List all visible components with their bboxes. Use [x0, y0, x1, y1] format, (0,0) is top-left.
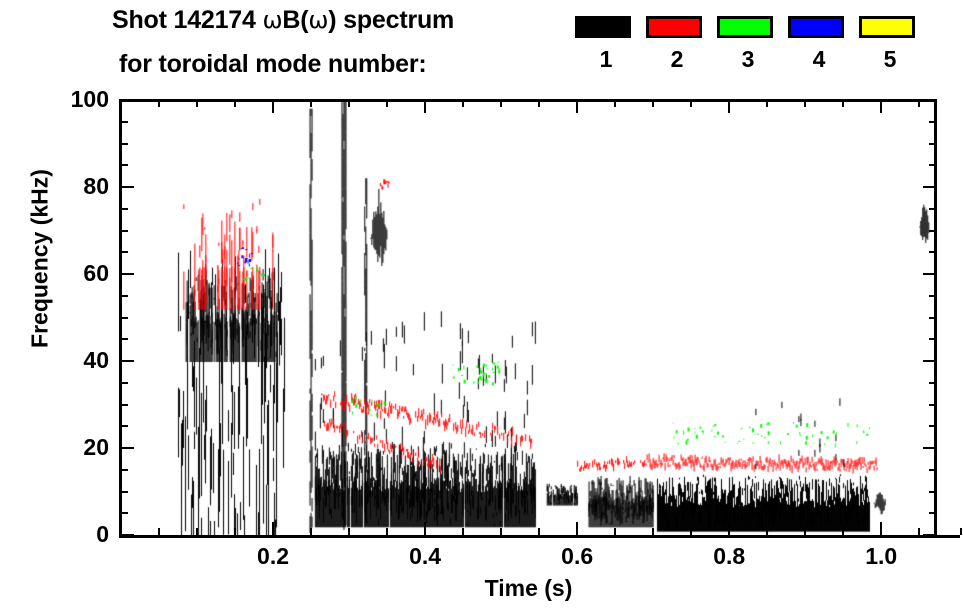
x-minor-tick-top-0.25: [310, 100, 312, 107]
x-major-tick-1: [880, 522, 882, 535]
x-minor-tick-top-0.05: [158, 100, 160, 107]
y-minor-tick-right-25: [929, 425, 936, 427]
title-line-2: for toroidal mode number:: [119, 50, 427, 79]
y-minor-tick-right-35: [929, 382, 936, 384]
y-tick-label-100: 100: [49, 88, 109, 111]
x-major-tick-0.8: [728, 522, 730, 535]
legend-swatch-1: [575, 16, 631, 38]
omega-symbol-2: ω: [308, 6, 328, 34]
x-minor-tick-overhang: [960, 528, 962, 535]
y-minor-tick-right-30: [929, 404, 936, 406]
x-minor-tick-0.95: [842, 528, 844, 535]
legend-item-toroidal-mode-5: 5: [859, 16, 921, 71]
y-minor-tick-45: [121, 338, 128, 340]
y-major-tick-60: [121, 273, 134, 275]
title-line-1: Shot 142174 ωB(ω) spectrum: [112, 6, 454, 35]
y-major-tick-right-80: [923, 186, 936, 188]
y-minor-tick-5: [121, 512, 128, 514]
omega-symbol-1: ω: [262, 6, 282, 34]
x-major-tick-top-0.6: [576, 100, 578, 113]
x-minor-tick-top-0.55: [538, 100, 540, 107]
plot-area: [121, 100, 936, 535]
legend-label-4: 4: [788, 48, 850, 71]
title-prefix: Shot 142174: [112, 6, 262, 34]
y-minor-tick-30: [121, 404, 128, 406]
x-minor-tick-0.25: [310, 528, 312, 535]
y-major-tick-right-40: [923, 360, 936, 362]
x-major-tick-top-0: [120, 100, 122, 113]
x-minor-tick-top-0.45: [462, 100, 464, 107]
x-minor-tick-0.55: [538, 528, 540, 535]
x-major-tick-0: [120, 522, 122, 535]
y-tick-label-0: 0: [49, 523, 109, 546]
y-minor-tick-right-45: [929, 338, 936, 340]
y-minor-tick-90: [121, 143, 128, 145]
y-major-tick-right-100: [923, 99, 936, 101]
x-minor-tick-top-0.15: [234, 100, 236, 107]
y-minor-tick-75: [121, 208, 128, 210]
top-axis-line: [119, 99, 937, 102]
legend-swatch-4: [788, 16, 844, 38]
x-minor-tick-top-0.85: [766, 100, 768, 107]
y-tick-label-20: 20: [49, 436, 109, 459]
x-minor-tick-top-0.75: [690, 100, 692, 107]
x-major-tick-0.4: [424, 522, 426, 535]
y-tick-label-40: 40: [49, 349, 109, 372]
y-minor-tick-right-50: [929, 317, 936, 319]
x-minor-tick-top-0.7: [652, 100, 654, 107]
title-suffix: ) spectrum: [328, 6, 454, 34]
x-tick-label-0.6: 0.6: [537, 545, 617, 568]
y-minor-tick-right-70: [929, 230, 936, 232]
x-major-tick-0.2: [272, 522, 274, 535]
title-mid: B(: [282, 6, 308, 34]
y-minor-tick-right-95: [929, 121, 936, 123]
spectrogram-figure: Shot 142174 ωB(ω) spectrum for toroidal …: [0, 0, 963, 615]
y-minor-tick-right-55: [929, 295, 936, 297]
x-minor-tick-top-0.65: [614, 100, 616, 107]
y-minor-tick-55: [121, 295, 128, 297]
x-tick-label-1.0: 1.0: [841, 545, 921, 568]
x-axis-label: Time (s): [121, 575, 936, 602]
y-minor-tick-right-10: [929, 491, 936, 493]
y-tick-label-80: 80: [49, 175, 109, 198]
legend: 12345: [575, 0, 963, 95]
x-major-tick-top-0.8: [728, 100, 730, 113]
y-major-tick-0: [121, 534, 134, 536]
x-tick-label-0.8: 0.8: [689, 545, 769, 568]
y-major-tick-20: [121, 447, 134, 449]
y-minor-tick-15: [121, 469, 128, 471]
legend-item-toroidal-mode-4: 4: [788, 16, 850, 71]
y-minor-tick-right-65: [929, 251, 936, 253]
y-minor-tick-right-15: [929, 469, 936, 471]
x-minor-tick-0.1: [196, 528, 198, 535]
y-minor-tick-right-75: [929, 208, 936, 210]
x-tick-label-0.4: 0.4: [385, 545, 465, 568]
x-tick-label-0.2: 0.2: [233, 545, 313, 568]
y-major-tick-right-20: [923, 447, 936, 449]
y-major-tick-100: [121, 99, 134, 101]
x-minor-tick-top-0.35: [386, 100, 388, 107]
x-minor-tick-top-0.9: [804, 100, 806, 107]
y-minor-tick-65: [121, 251, 128, 253]
y-minor-tick-35: [121, 382, 128, 384]
y-minor-tick-right-85: [929, 164, 936, 166]
spectrogram-canvas: [121, 100, 936, 535]
x-major-tick-top-0.2: [272, 100, 274, 113]
x-minor-tick-top-0.3: [348, 100, 350, 107]
legend-item-toroidal-mode-3: 3: [717, 16, 779, 71]
x-minor-tick-0.7: [652, 528, 654, 535]
x-minor-tick-0.9: [804, 528, 806, 535]
x-minor-tick-top-0.5: [500, 100, 502, 107]
legend-swatch-2: [646, 16, 702, 38]
x-axis-line: [119, 535, 960, 538]
x-minor-tick-top-0.1: [196, 100, 198, 107]
y-minor-tick-10: [121, 491, 128, 493]
y-minor-tick-70: [121, 230, 128, 232]
x-minor-tick-top-0.95: [842, 100, 844, 107]
y-tick-label-60: 60: [49, 262, 109, 285]
x-minor-tick-0.35: [386, 528, 388, 535]
legend-label-1: 1: [575, 48, 637, 71]
y-minor-tick-25: [121, 425, 128, 427]
legend-swatch-5: [859, 16, 915, 38]
y-major-tick-right-60: [923, 273, 936, 275]
x-minor-tick-top-1.05: [918, 100, 920, 107]
legend-item-toroidal-mode-1: 1: [575, 16, 637, 71]
y-major-tick-80: [121, 186, 134, 188]
x-minor-tick-0.05: [158, 528, 160, 535]
x-minor-tick-0.3: [348, 528, 350, 535]
x-minor-tick-1.05: [918, 528, 920, 535]
legend-swatch-3: [717, 16, 773, 38]
y-major-tick-40: [121, 360, 134, 362]
y-major-tick-right-0: [923, 534, 936, 536]
x-major-tick-top-0.4: [424, 100, 426, 113]
legend-label-5: 5: [859, 48, 921, 71]
x-minor-tick-0.5: [500, 528, 502, 535]
x-minor-tick-0.65: [614, 528, 616, 535]
x-minor-tick-0.15: [234, 528, 236, 535]
x-minor-tick-0.45: [462, 528, 464, 535]
legend-item-toroidal-mode-2: 2: [646, 16, 708, 71]
y-minor-tick-50: [121, 317, 128, 319]
legend-label-3: 3: [717, 48, 779, 71]
y-minor-tick-95: [121, 121, 128, 123]
x-major-tick-top-1: [880, 100, 882, 113]
x-minor-tick-0.75: [690, 528, 692, 535]
x-minor-tick-0.85: [766, 528, 768, 535]
legend-label-2: 2: [646, 48, 708, 71]
y-minor-tick-85: [121, 164, 128, 166]
y-minor-tick-right-90: [929, 143, 936, 145]
x-major-tick-0.6: [576, 522, 578, 535]
y-minor-tick-right-5: [929, 512, 936, 514]
